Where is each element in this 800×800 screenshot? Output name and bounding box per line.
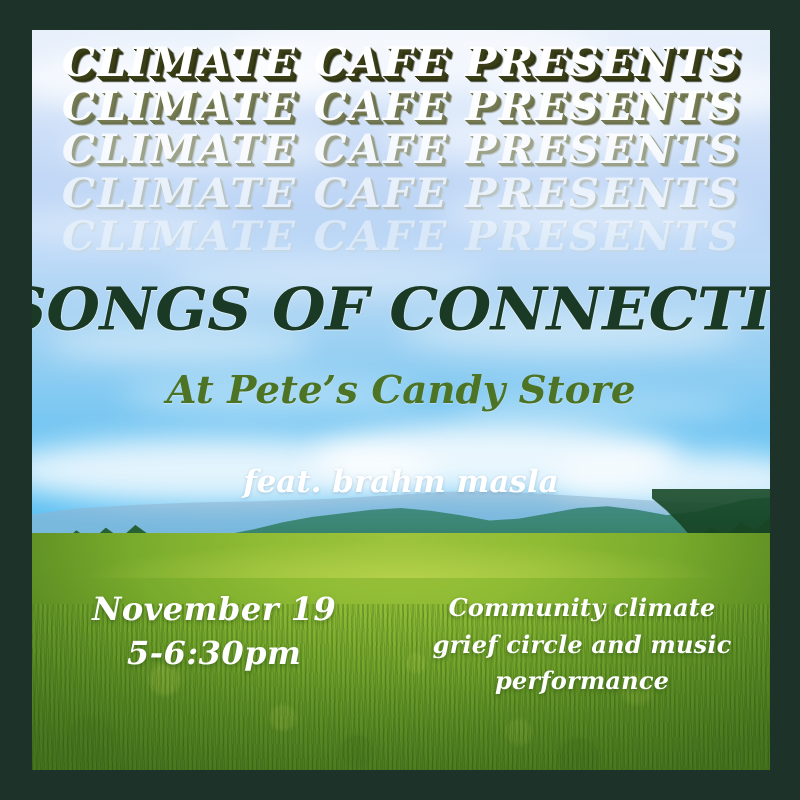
presents-header-line-1: CLIMATE CAFE PRESENTS	[32, 41, 770, 85]
poster-text-layer: CLIMATE CAFE PRESENTS CLIMATE CAFE PRESE…	[32, 30, 770, 770]
event-description-line-2: grief circle and music	[431, 627, 733, 663]
presents-header-stack: CLIMATE CAFE PRESENTS CLIMATE CAFE PRESE…	[32, 41, 770, 259]
event-description-block: Community climate grief circle and music…	[431, 587, 733, 699]
presents-header-line-4: CLIMATE CAFE PRESENTS	[32, 172, 770, 216]
event-title: SONGS OF CONNECTION	[32, 275, 770, 344]
poster-photo-background: CLIMATE CAFE PRESENTS CLIMATE CAFE PRESE…	[32, 30, 770, 770]
presents-header-line-2: CLIMATE CAFE PRESENTS	[32, 85, 770, 129]
presents-header-line-3: CLIMATE CAFE PRESENTS	[32, 128, 770, 172]
event-venue: At Pete’s Candy Store	[32, 367, 770, 412]
event-poster: CLIMATE CAFE PRESENTS CLIMATE CAFE PRESE…	[0, 0, 800, 800]
event-date: November 19	[76, 587, 352, 631]
event-description-line-3: performance	[431, 663, 733, 699]
presents-header-line-5: CLIMATE CAFE PRESENTS	[32, 215, 770, 259]
event-description-line-1: Community climate	[431, 590, 733, 626]
featured-artist: feat. brahm masla	[32, 464, 770, 500]
event-datetime-block: November 19 5-6:30pm	[76, 587, 352, 675]
poster-footer: November 19 5-6:30pm Community climate g…	[32, 587, 770, 699]
event-time: 5-6:30pm	[76, 631, 352, 675]
